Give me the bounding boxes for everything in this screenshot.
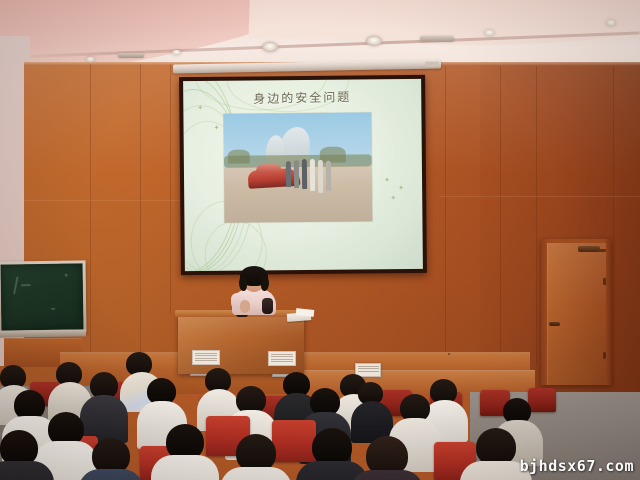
photo-tree-line <box>320 147 346 163</box>
butterfly-icon: ✦ <box>197 105 203 112</box>
chalkboard-frame <box>0 260 86 333</box>
ceiling-downlight <box>262 42 278 52</box>
photo-bystander <box>294 160 299 188</box>
ceiling-downlight <box>366 36 382 46</box>
butterfly-icon: ✦ <box>390 195 396 202</box>
projected-slide: 身边的安全问题 ✦ ✦ ✦ <box>183 79 423 271</box>
butterfly-icon: ✦ <box>214 125 220 132</box>
butterfly-icon: ✦ <box>398 185 404 192</box>
slide-title: 身边的安全问题 <box>183 87 421 109</box>
auditorium-seat[interactable] <box>528 388 556 412</box>
door-closer <box>578 246 600 252</box>
photo-bystander <box>326 161 331 191</box>
speaker-dark-object <box>262 298 273 314</box>
screen-roller-cap <box>425 61 439 66</box>
chalk-smudge <box>65 274 68 277</box>
wall-panel-seam <box>536 66 537 366</box>
auditorium-seat[interactable] <box>272 420 316 462</box>
wall-panel-seam <box>140 64 141 354</box>
wall-panel-seam <box>170 64 171 314</box>
chalk-smudge <box>51 308 55 310</box>
speaker-hair-left <box>239 276 247 291</box>
wall-panel-seam-horizontal <box>440 196 640 197</box>
audience-body <box>151 455 219 480</box>
slide-photo-accident-scene <box>223 112 372 222</box>
door-hinge <box>603 352 606 359</box>
ceiling-downlight <box>484 30 495 36</box>
photo-bystander <box>286 161 291 187</box>
wall-panel-seam <box>445 66 446 356</box>
site-watermark: bjhdsx67.com <box>520 457 634 475</box>
door-hinge <box>603 278 606 285</box>
audience-body <box>220 467 292 480</box>
lectern-vent-panel <box>268 351 296 366</box>
ceiling-slot-light <box>118 53 144 58</box>
chalkboard <box>1 263 84 330</box>
chalk-tray <box>0 329 86 337</box>
wall-panel-seam <box>500 66 501 358</box>
chalk-smudge <box>13 276 18 294</box>
photo-damaged-car-roof <box>256 164 282 173</box>
chalk-smudge <box>21 284 31 286</box>
photo-bystander <box>310 159 315 191</box>
butterfly-icon: ✦ <box>384 177 390 184</box>
lectern-vent-panel <box>192 350 220 365</box>
exit-door[interactable] <box>547 243 606 385</box>
ceiling-slot-light <box>420 36 454 42</box>
projection-screen: 身边的安全问题 ✦ ✦ ✦ <box>179 75 427 275</box>
ceiling-downlight <box>172 50 181 55</box>
photo-bystander <box>302 159 307 189</box>
photograph-canvas: 身边的安全问题 ✦ ✦ ✦ <box>0 0 640 480</box>
door-closer-arm <box>598 249 606 252</box>
wall-panel-seam <box>90 64 91 364</box>
speaker-arm <box>240 300 250 313</box>
ceiling-downlight <box>606 20 616 26</box>
door-handle[interactable] <box>549 322 560 326</box>
photo-tree-line <box>228 150 250 164</box>
photo-bystander <box>318 160 323 193</box>
wall-panel-seam-horizontal <box>24 200 184 201</box>
wall-panel-seam <box>613 66 614 386</box>
stage-fixing-dot <box>448 353 450 355</box>
